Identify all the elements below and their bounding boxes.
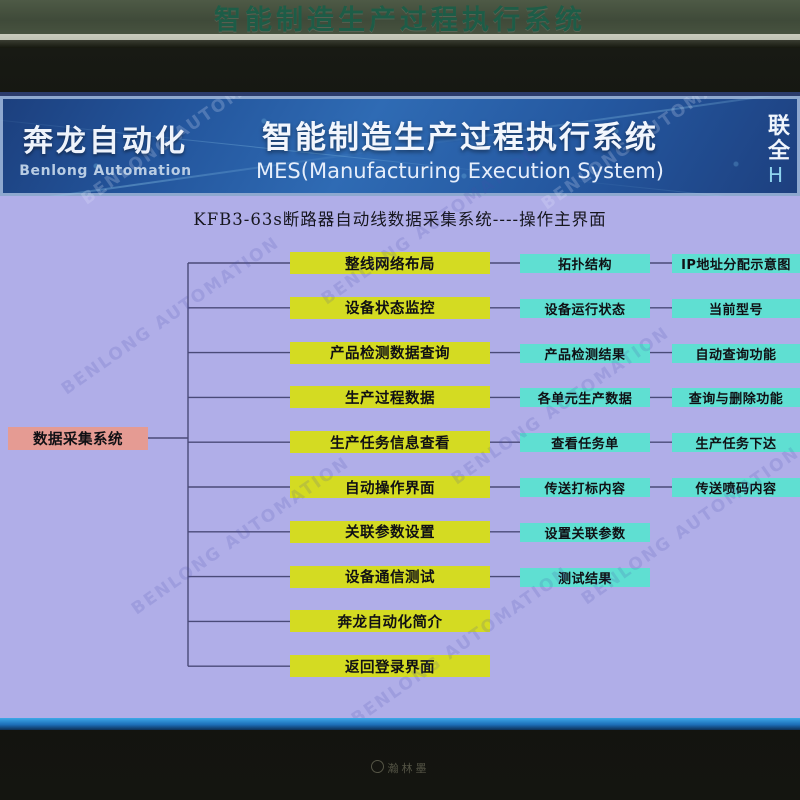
screenshot-stage: 智能制造生产过程执行系统 奔龙自动化 Benlong Automation 智能…: [0, 0, 800, 800]
tree-node-level2[interactable]: 产品检测结果: [520, 344, 650, 363]
tree-node-level2[interactable]: 拓扑结构: [520, 254, 650, 273]
app-title-en: MES(Manufacturing Execution System): [210, 159, 710, 183]
tree-node-level3[interactable]: IP地址分配示意图: [672, 254, 800, 273]
tree-node-level1[interactable]: 设备通信测试: [290, 566, 490, 588]
tree-node-level3[interactable]: 自动查询功能: [672, 344, 800, 363]
menu-tree-diagram: 数据采集系统整线网络布局拓扑结构IP地址分配示意图设备状态监控设备运行状态当前型…: [0, 236, 800, 706]
tree-node-level1[interactable]: 生产任务信息查看: [290, 431, 490, 453]
tree-node-level1[interactable]: 返回登录界面: [290, 655, 490, 677]
tree-node-level2[interactable]: 查看任务单: [520, 433, 650, 452]
monitor-bezel-top-sheen: [0, 40, 800, 48]
tree-node-level2[interactable]: 测试结果: [520, 568, 650, 587]
tree-node-level3[interactable]: 传送喷码内容: [672, 478, 800, 497]
brand-mark-icon: [371, 760, 384, 773]
app-header-banner: 奔龙自动化 Benlong Automation 智能制造生产过程执行系统 ME…: [0, 96, 800, 196]
tree-node-level1[interactable]: 生产过程数据: [290, 386, 490, 408]
banner-right-line2: 全: [768, 139, 800, 164]
app-title-cn: 智能制造生产过程执行系统: [210, 112, 710, 157]
tree-node-level1[interactable]: 整线网络布局: [290, 252, 490, 274]
brand-name-en: Benlong Automation: [8, 163, 203, 179]
tree-node-level2[interactable]: 传送打标内容: [520, 478, 650, 497]
brand-block: 奔龙自动化 Benlong Automation: [8, 116, 203, 179]
brand-name-cn: 奔龙自动化: [8, 116, 203, 160]
page-subtitle: KFB3-63s断路器自动线数据采集系统----操作主界面: [0, 206, 800, 230]
wall-sign: 智能制造生产过程执行系统: [0, 0, 800, 34]
banner-right-line3: H: [768, 164, 800, 187]
banner-right-text: 联 全 H: [768, 114, 800, 187]
tree-node-level2[interactable]: 各单元生产数据: [520, 388, 650, 407]
banner-right-line1: 联: [768, 114, 800, 139]
app-title-block: 智能制造生产过程执行系统 MES(Manufacturing Execution…: [210, 112, 710, 183]
tree-node-level3[interactable]: 当前型号: [672, 299, 800, 318]
monitor-brand-text: 瀚林墨: [388, 762, 430, 775]
tree-node-level2[interactable]: 设置关联参数: [520, 523, 650, 542]
tree-node-level2[interactable]: 设备运行状态: [520, 299, 650, 318]
tree-node-level3[interactable]: 生产任务下达: [672, 433, 800, 452]
tree-node-level1[interactable]: 自动操作界面: [290, 476, 490, 498]
tree-root-node[interactable]: 数据采集系统: [8, 427, 148, 450]
tree-node-level1[interactable]: 设备状态监控: [290, 297, 490, 319]
monitor-screen: 奔龙自动化 Benlong Automation 智能制造生产过程执行系统 ME…: [0, 96, 800, 722]
tree-node-level1[interactable]: 产品检测数据查询: [290, 342, 490, 364]
screen-bottom-edge: [0, 718, 800, 730]
tree-node-level3[interactable]: 查询与删除功能: [672, 388, 800, 407]
tree-node-level1[interactable]: 关联参数设置: [290, 521, 490, 543]
tree-node-level1[interactable]: 奔龙自动化简介: [290, 610, 490, 632]
wall-sign-text: 智能制造生产过程执行系统: [214, 0, 586, 34]
monitor-brand-logo: 瀚林墨: [0, 760, 800, 776]
